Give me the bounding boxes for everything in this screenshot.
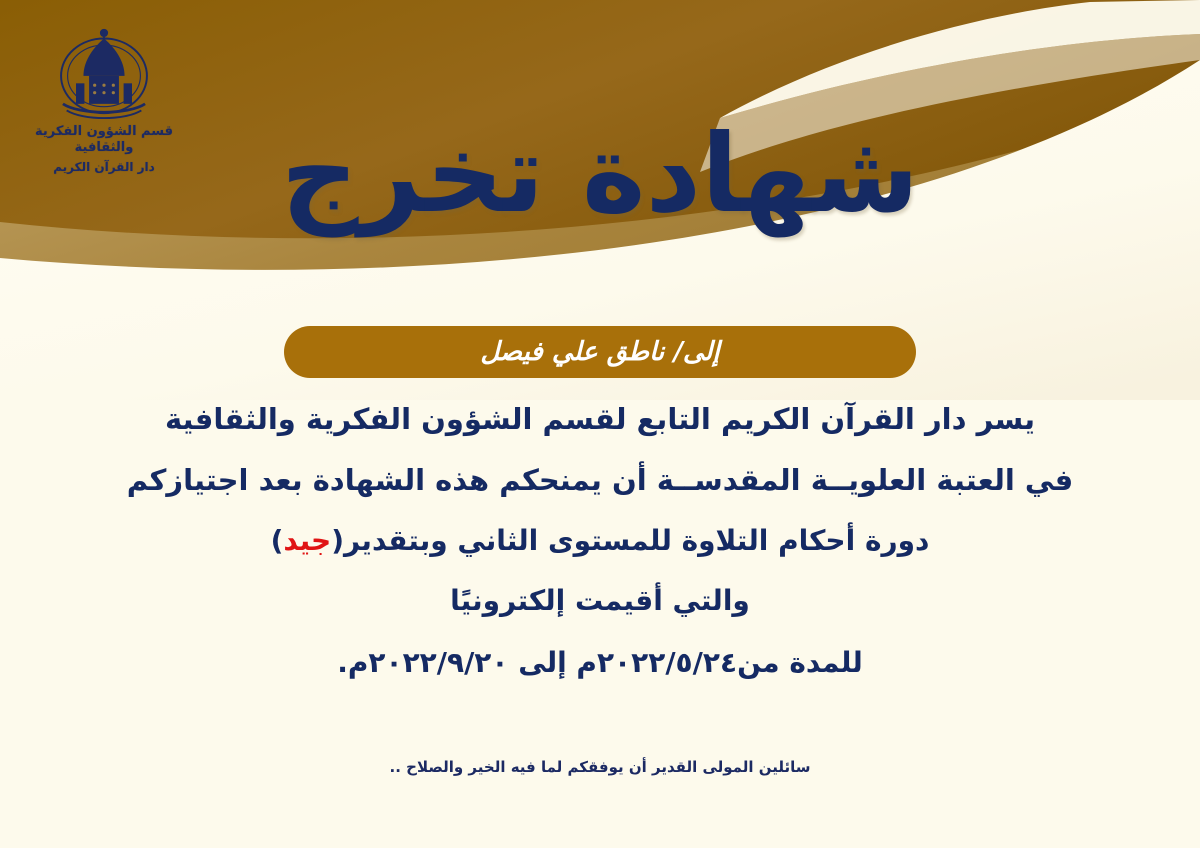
course-text-before-grade: دورة أحكام التلاوة للمستوى الثاني وبتقدي… (331, 524, 929, 557)
closing-note: سائلين المولى القدير أن يوفقكم لما فيه ا… (0, 758, 1200, 776)
recipient-name: إلى/ ناطق علي فيصل (284, 326, 916, 378)
grade-value: جيد (283, 524, 331, 557)
certificate-page: قسم الشؤون الفكرية والثقافية دار القرآن … (0, 0, 1200, 848)
certificate-body: يسر دار القرآن الكريم التابع لقسم الشؤون… (0, 405, 1200, 677)
body-line-5-dates: للمدة من٢٠٢٢/٥/٢٤م إلى ٢٠٢٢/٩/٢٠م. (0, 649, 1200, 677)
body-line-4: والتي أقيمت إلكترونيًا (0, 587, 1200, 615)
shrine-emblem-icon (48, 18, 160, 130)
body-line-2: في العتبة العلويــة المقدســة أن يمنحكم … (0, 466, 1200, 495)
body-line-1: يسر دار القرآن الكريم التابع لقسم الشؤون… (0, 405, 1200, 434)
recipient-banner: إلى/ ناطق علي فيصل (0, 326, 1200, 378)
cream-ribbon-highlight (720, 0, 1200, 118)
page-title: شهادة تخرج (0, 118, 1200, 231)
course-text-after-grade: ) (271, 524, 284, 557)
body-line-3: دورة أحكام التلاوة للمستوى الثاني وبتقدي… (0, 527, 1200, 555)
